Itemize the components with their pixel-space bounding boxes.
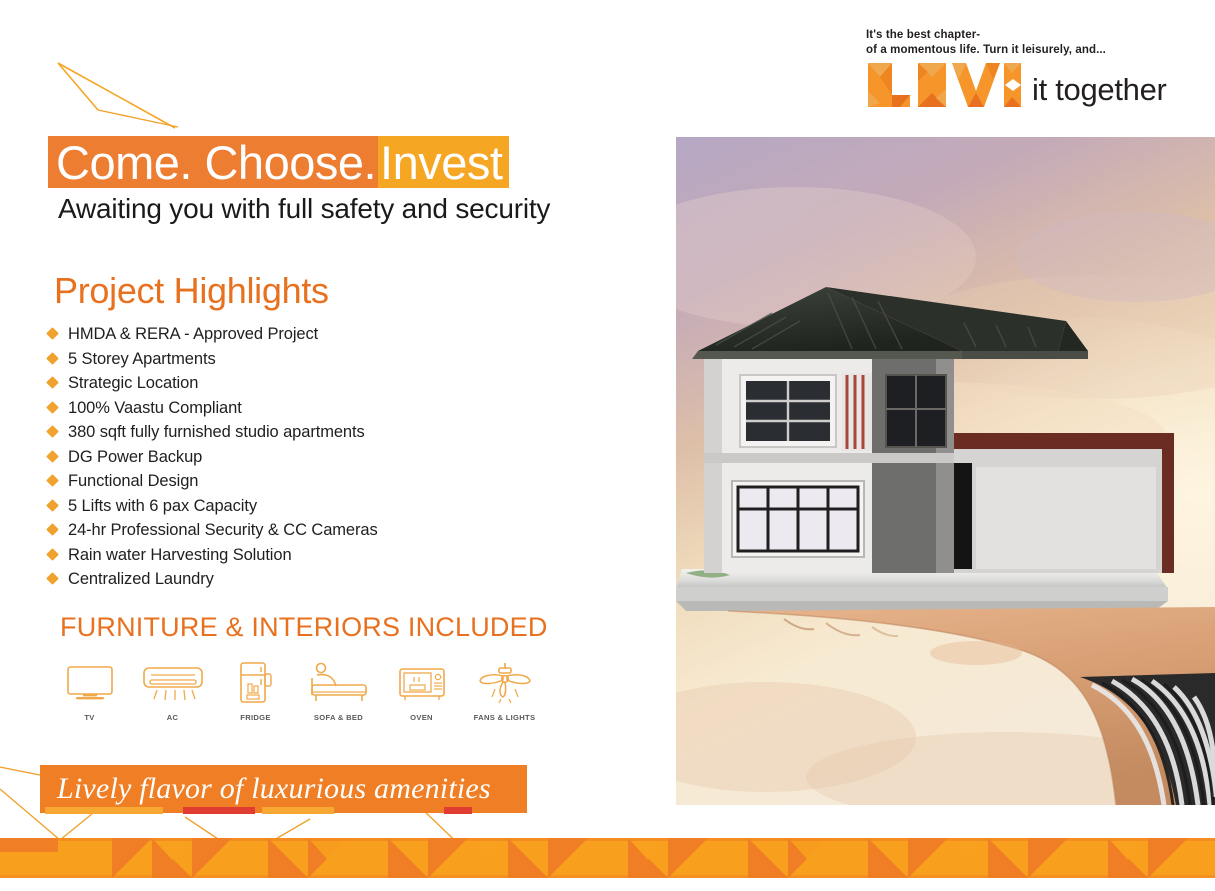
accent-chip [262,807,334,814]
amenity-item-fans-lights: FANS & LIGHTS [463,662,546,722]
logo-suffix-text: it together [1032,74,1167,109]
decorative-bottom-band [0,838,1215,878]
diamond-bullet-icon [46,376,59,389]
list-item: Functional Design [48,471,478,494]
project-highlights-title: Project Highlights [54,270,329,312]
accent-chip [444,807,472,814]
tv-icon [64,662,116,704]
diamond-bullet-icon [46,474,59,487]
amenity-item-tv: TV [48,662,131,722]
diamond-bullet-icon [46,523,59,536]
amenity-item-oven: OVEN [380,662,463,722]
headline-part-one: Come. Choose. [48,136,378,188]
brochure-page: It's the best chapter- of a momentous li… [0,0,1215,891]
list-item: 100% Vaastu Compliant [48,398,478,421]
tagline-banner: Lively flavor of luxurious amenities [40,765,527,813]
diamond-bullet-icon [46,499,59,512]
list-item: 5 Storey Apartments [48,349,478,372]
tagline-text: Lively flavor of luxurious amenities [57,772,491,806]
project-highlights-list: HMDA & RERA - Approved Project 5 Storey … [48,324,478,594]
amenity-label: OVEN [410,713,433,722]
banner-accent-chips [40,807,527,814]
accent-chip [183,807,255,814]
list-item: Centralized Laundry [48,569,478,592]
amenity-item-fridge: FRIDGE [214,662,297,722]
amenity-label: FRIDGE [240,713,271,722]
list-item: 5 Lifts with 6 pax Capacity [48,496,478,519]
diamond-bullet-icon [46,401,59,414]
model-house-in-hand-image [676,137,1215,805]
amenity-label: AC [167,713,179,722]
list-item: Rain water Harvesting Solution [48,545,478,568]
amenity-item-sofa-bed: SOFA & BED [297,662,380,722]
diamond-bullet-icon [46,450,59,463]
furniture-section-title: FURNITURE & INTERIORS INCLUDED [60,612,548,643]
amenity-label: FANS & LIGHTS [474,713,536,722]
diamond-bullet-icon [46,425,59,438]
diamond-bullet-icon [46,352,59,365]
furniture-icon-row: TV AC [48,662,548,722]
air-conditioner-icon [141,662,205,704]
diamond-bullet-icon [46,572,59,585]
headline: Come. Choose. Invest [48,136,509,188]
headline-part-two: Invest [378,136,509,188]
list-item: 380 sqft fully furnished studio apartmen… [48,422,478,445]
brand-block: It's the best chapter- of a momentous li… [866,28,1206,109]
live-logo-icon [866,61,1021,109]
list-item: DG Power Backup [48,447,478,470]
subheadline: Awaiting you with full safety and securi… [58,193,550,225]
amenity-item-ac: AC [131,662,214,722]
brand-tagline: It's the best chapter- of a momentous li… [866,28,1206,57]
list-item: Strategic Location [48,373,478,396]
list-item: HMDA & RERA - Approved Project [48,324,478,347]
refrigerator-icon [237,662,275,704]
bed-icon [308,662,370,704]
microwave-oven-icon [397,662,447,704]
amenity-label: SOFA & BED [314,713,363,722]
list-item: 24-hr Professional Security & CC Cameras [48,520,478,543]
hero-photo [676,137,1215,805]
diamond-bullet-icon [46,548,59,561]
amenity-label: TV [84,713,94,722]
triangle-pattern [0,838,1215,878]
ceiling-fan-icon [477,662,533,704]
diamond-bullet-icon [46,327,59,340]
accent-chip [45,807,163,814]
